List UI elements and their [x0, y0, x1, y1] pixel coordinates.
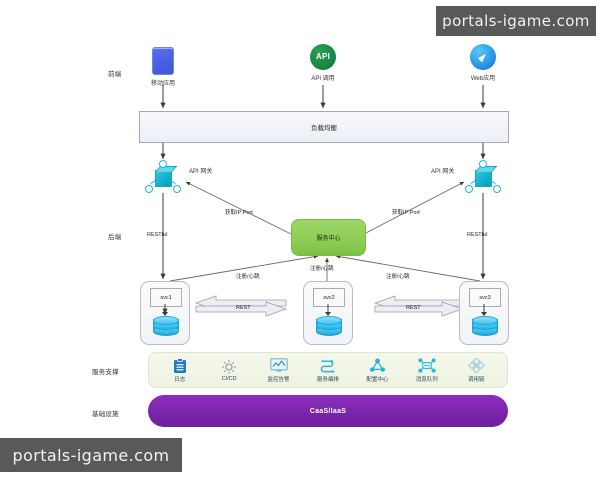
load-balancer-label: 负载均衡 — [311, 122, 337, 132]
trace-chain-icon — [454, 357, 498, 374]
gateway-cube-icon — [155, 170, 172, 187]
edge-label-restful-left: RESTful — [147, 232, 167, 238]
edge-label-rest-right: REST — [406, 305, 421, 311]
edge-label-get-ip-port-right: 获取IP:Port — [392, 208, 420, 216]
row-label-backend: 后端 — [108, 231, 121, 241]
client-api-call[interactable]: API API 调用 — [293, 44, 353, 82]
db-top — [153, 316, 179, 325]
support-item-trace-label: 调用链 — [454, 375, 498, 383]
support-item-monitoring-label: 监控告警 — [257, 375, 301, 383]
support-item-cicd-label: CI/CD — [207, 376, 251, 382]
service-node-svc3[interactable]: svc3 — [459, 281, 509, 345]
diagram-canvas: 前端 后端 服务支撑 基础设施 移动应用 API API 调用 Web应用 负载… — [0, 0, 600, 480]
client-api-label: API 调用 — [293, 73, 353, 82]
edge-label-restful-right: RESTful — [467, 232, 487, 238]
gateway-cube-icon — [475, 170, 492, 187]
service-support-bar: 日志 CI/CD 监控告警 — [148, 352, 508, 388]
edge-label-register-heartbeat-right: 注册/心跳 — [386, 272, 410, 280]
infrastructure-label: CaaS/IaaS — [310, 408, 347, 415]
web-compass-icon — [470, 44, 496, 70]
edge-label-register-heartbeat-left: 注册/心跳 — [236, 272, 260, 280]
watermark-bottom: portals-igame.com — [0, 438, 182, 472]
api-gateway-left-label: API 网关 — [189, 166, 212, 175]
service-center-node[interactable]: 服务中心 — [291, 219, 366, 256]
service-mesh-icon — [306, 357, 350, 374]
row-label-support: 服务支撑 — [92, 366, 119, 376]
gateway-node-top — [479, 160, 487, 168]
edge-label-get-ip-port-left: 获取IP:Port — [225, 208, 253, 216]
api-gateway-right[interactable]: API 网关 — [461, 160, 505, 194]
database-icon — [316, 316, 340, 336]
support-item-orchestration[interactable]: 服务编排 — [306, 357, 350, 383]
clipboard-log-icon — [158, 357, 202, 374]
service-node-svc2[interactable]: svc2 — [303, 281, 353, 345]
gateway-node-bottom-right — [493, 185, 501, 193]
gateway-node-top — [159, 160, 167, 168]
message-queue-icon — [405, 357, 449, 374]
mobile-app-icon — [152, 47, 174, 75]
watermark-top: portals-igame.com — [436, 6, 596, 36]
api-circle-icon: API — [310, 44, 336, 70]
gateway-node-bottom-left — [145, 185, 153, 193]
service-center-label: 服务中心 — [316, 233, 340, 242]
db-top — [316, 316, 342, 325]
svc-internal-arrow — [304, 304, 352, 316]
support-item-message-queue-label: 消息队列 — [405, 375, 449, 383]
support-item-log-label: 日志 — [158, 375, 202, 383]
support-item-config-center-label: 配置中心 — [355, 375, 399, 383]
client-web-label: Web应用 — [453, 73, 513, 82]
api-gateway-right-label: API 网关 — [431, 166, 454, 175]
row-label-infrastructure: 基础设施 — [92, 408, 119, 418]
support-item-cicd[interactable]: CI/CD — [207, 358, 251, 382]
support-item-log[interactable]: 日志 — [158, 357, 202, 383]
svc-internal-arrow — [141, 304, 189, 316]
client-mobile-app[interactable]: 移动应用 — [133, 47, 193, 87]
infrastructure-bar[interactable]: CaaS/IaaS — [148, 395, 508, 427]
db-top — [472, 316, 498, 325]
database-icon — [472, 316, 496, 336]
edge-label-rest-left: REST — [236, 305, 251, 311]
support-item-config-center[interactable]: 配置中心 — [355, 357, 399, 383]
support-item-orchestration-label: 服务编排 — [306, 375, 350, 383]
gateway-node-bottom-left — [465, 185, 473, 193]
load-balancer-bar[interactable]: 负载均衡 — [139, 111, 509, 143]
api-gateway-left[interactable]: API 网关 — [141, 160, 185, 194]
monitor-alert-icon — [257, 357, 301, 374]
support-item-message-queue[interactable]: 消息队列 — [405, 357, 449, 383]
gear-cicd-icon — [207, 358, 251, 375]
gateway-node-bottom-right — [173, 185, 181, 193]
client-mobile-label: 移动应用 — [133, 78, 193, 87]
row-label-frontend: 前端 — [108, 68, 121, 78]
support-item-monitoring[interactable]: 监控告警 — [257, 357, 301, 383]
edge-label-register-heartbeat-center: 注册/心跳 — [310, 264, 334, 272]
svc-internal-arrow — [460, 304, 508, 316]
service-node-svc1[interactable]: svc1 — [140, 281, 190, 345]
support-item-trace[interactable]: 调用链 — [454, 357, 498, 383]
database-icon — [153, 316, 177, 336]
config-center-icon — [355, 357, 399, 374]
client-web-app[interactable]: Web应用 — [453, 44, 513, 82]
